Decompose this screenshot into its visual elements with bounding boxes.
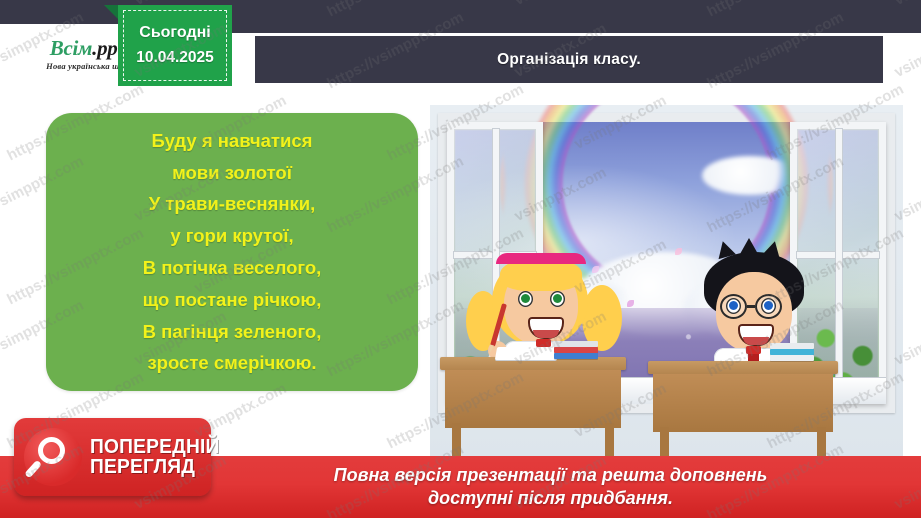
- poem-line: В потічка веселого,: [143, 252, 322, 284]
- preview-badge-line1: ПОПЕРЕДНІЙ: [90, 437, 220, 457]
- poem-line: мови золотої: [172, 157, 292, 189]
- girl-headband: [496, 253, 586, 264]
- purchase-notice-text: Повна версія презентації та решта доповн…: [154, 464, 768, 510]
- poem-line: У трави-веснянки,: [149, 188, 316, 220]
- presentation-slide: Організація класу. Всім.pptx Нова україн…: [0, 0, 921, 518]
- magnifier-icon: [24, 428, 82, 486]
- page-title: Організація класу.: [497, 51, 641, 69]
- desk-leg: [605, 423, 614, 457]
- girl-eye-right: [550, 291, 565, 307]
- desk-icon: [648, 361, 838, 431]
- desk-leg: [817, 427, 826, 457]
- date-badge-label: Сьогодні: [139, 21, 210, 46]
- desk-icon: [440, 357, 626, 427]
- glasses-bridge: [747, 305, 755, 308]
- books-icon: [554, 341, 598, 359]
- purchase-notice-line1: Повна версія презентації та решта доповн…: [334, 464, 768, 487]
- girl-eye-left: [518, 291, 533, 307]
- boy-eye-right: [761, 298, 776, 314]
- poem-line: В пагінця зеленого,: [143, 316, 322, 348]
- date-badge-value: 10.04.2025: [136, 46, 214, 70]
- poem-line: у гори крутої,: [170, 220, 293, 252]
- desk-front: [445, 370, 621, 428]
- preview-badge-line2: ПЕРЕГЛЯД: [90, 457, 220, 477]
- classroom-illustration: [430, 105, 903, 457]
- date-badge: Сьогодні 10.04.2025: [118, 5, 232, 86]
- preview-badge[interactable]: ПОПЕРЕДНІЙ ПЕРЕГЛЯД: [14, 418, 211, 496]
- purchase-notice-line2: доступні після придбання.: [334, 487, 768, 510]
- cloud-icon: [702, 156, 799, 195]
- desk-top: [648, 361, 838, 374]
- preview-badge-text: ПОПЕРЕДНІЙ ПЕРЕГЛЯД: [90, 437, 225, 478]
- magnifier-ring: [38, 437, 65, 464]
- slide-header-bar: Організація класу.: [255, 36, 883, 83]
- notebook-icon: [495, 347, 559, 360]
- poem-line: зросте смерічкою.: [147, 347, 316, 379]
- brand-logo-prefix: Всім: [50, 36, 92, 60]
- desk-leg: [660, 427, 669, 457]
- poem-panel: Буду я навчатися мови золотої У трави-ве…: [46, 113, 418, 391]
- poem-line: Буду я навчатися: [152, 125, 313, 157]
- desk-leg: [452, 423, 461, 457]
- poem-line: що постане річкою,: [143, 284, 322, 316]
- desk-front: [653, 374, 833, 432]
- books-icon: [770, 343, 814, 361]
- magnifier-handle: [24, 460, 42, 479]
- boy-eye-left: [726, 298, 741, 314]
- boy-hair-spike: [740, 238, 758, 254]
